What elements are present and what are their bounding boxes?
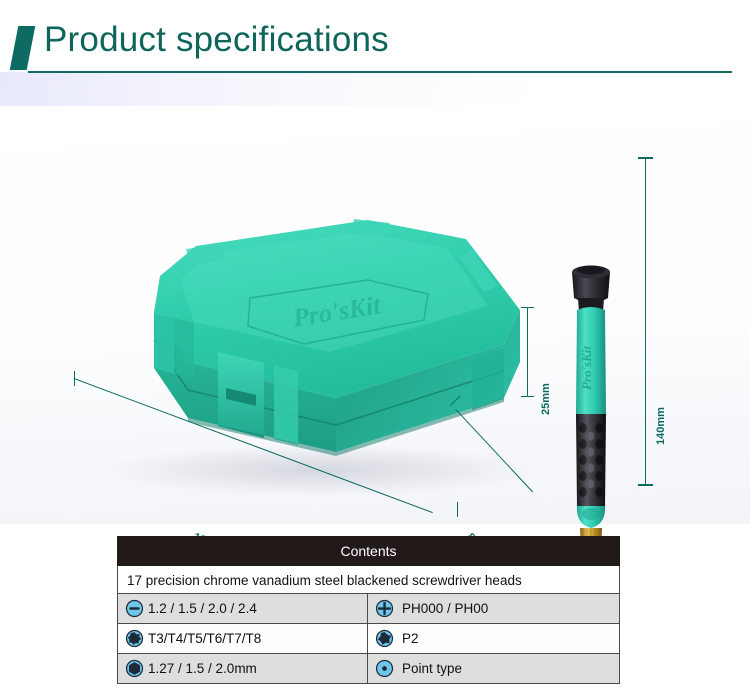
slotted-screwdriver-icon [125,599,144,618]
dim-140-tick-top [638,157,653,159]
product-photo-area: Pro'sKit [0,106,750,524]
page-title: Product specifications [44,20,389,60]
bit-cell-slotted: 1.2 / 1.5 / 2.0 / 2.4 [118,594,368,623]
bit-label: P2 [402,632,419,646]
dim-25-line [527,307,528,397]
dim-125-tick-right [457,502,458,517]
table-row: T3/T4/T5/T6/T7/T8 P2 [117,624,620,654]
bit-label: 1.2 / 1.5 / 2.0 / 2.4 [148,602,257,616]
bit-label: PH000 / PH00 [402,602,488,616]
dim-140-tick-bottom [638,484,653,486]
dim-140-line [645,157,646,485]
contents-table-header: Contents [117,536,620,566]
screwdriver-image: Pro'sKit [556,146,626,596]
contents-header-label: Contents [340,543,396,559]
dim-25-tick-bottom [521,396,534,397]
dim-140-label: 140mm [655,407,667,445]
contents-table: Contents 17 precision chrome vanadium st… [117,536,620,684]
torx-screwdriver-icon [125,629,144,648]
header-gradient-band [0,72,750,106]
dim-25-tick-top [521,307,534,308]
title-underline [28,71,732,73]
bit-label: 1.27 / 1.5 / 2.0mm [148,662,257,676]
table-row-summary: 17 precision chrome vanadium steel black… [117,566,620,594]
bit-label: T3/T4/T5/T6/T7/T8 [148,632,261,646]
table-row: 1.2 / 1.5 / 2.0 / 2.4 PH000 / PH00 [117,594,620,624]
title-accent-mark [10,26,36,70]
dim-25-label: 25mm [540,383,552,415]
hex-screwdriver-icon [125,659,144,678]
bit-cell-torx: T3/T4/T5/T6/T7/T8 [118,624,368,653]
bit-cell-hex: 1.27 / 1.5 / 2.0mm [118,654,368,683]
bit-cell-point: Point type [368,654,619,683]
tool-case-image: Pro'sKit [68,202,538,502]
bit-cell-phillips: PH000 / PH00 [368,594,619,623]
phillips-screwdriver-icon [375,599,394,618]
bit-label: Point type [402,662,462,676]
dim-125-tick-left [74,371,75,386]
summary-cell: 17 precision chrome vanadium steel black… [118,566,619,595]
product-spec-page: Product specifications [0,0,750,697]
point-type-icon [375,659,394,678]
table-row: 1.27 / 1.5 / 2.0mm Point type [117,654,620,684]
summary-text: 17 precision chrome vanadium steel black… [127,574,522,588]
svg-text:Pro'sKit: Pro'sKit [579,346,594,390]
pentalobe-screwdriver-icon [375,629,394,648]
bit-cell-pentalobe: P2 [368,624,619,653]
